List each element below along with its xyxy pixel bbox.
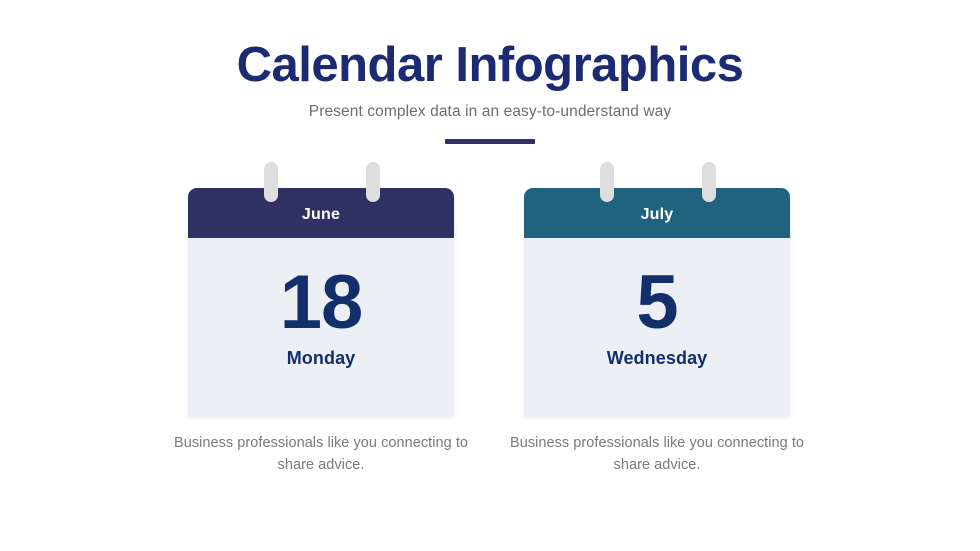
calendar-day-name: Monday [188,344,454,370]
calendars-row: June 18 Monday Business professionals li… [0,160,980,490]
calendar-day-name: Wednesday [524,344,790,370]
calendar-ring-icon [702,162,716,202]
calendar-ring-icon [264,162,278,202]
calendar-card[interactable]: June 18 Monday [188,188,454,416]
calendar-caption: Business professionals like you connecti… [506,432,808,476]
calendar-ring-icon [600,162,614,202]
slide-canvas: Calendar Infographics Present complex da… [0,0,980,551]
calendar-body: 18 Monday [188,238,454,416]
calendar-day-number: 5 [524,238,790,344]
page-subtitle: Present complex data in an easy-to-under… [0,101,980,123]
calendar-body: 5 Wednesday [524,238,790,416]
page-title: Calendar Infographics [0,36,980,94]
calendar-caption: Business professionals like you connecti… [170,432,472,476]
calendar-ring-icon [366,162,380,202]
calendar-month-label: June [302,205,340,225]
calendar-month-label: July [641,205,674,225]
slide-header: Calendar Infographics Present complex da… [0,36,980,144]
title-divider [445,139,535,144]
calendar-header: June [188,188,454,238]
calendar-card[interactable]: July 5 Wednesday [524,188,790,416]
calendar-day-number: 18 [188,238,454,344]
calendar-header: July [524,188,790,238]
